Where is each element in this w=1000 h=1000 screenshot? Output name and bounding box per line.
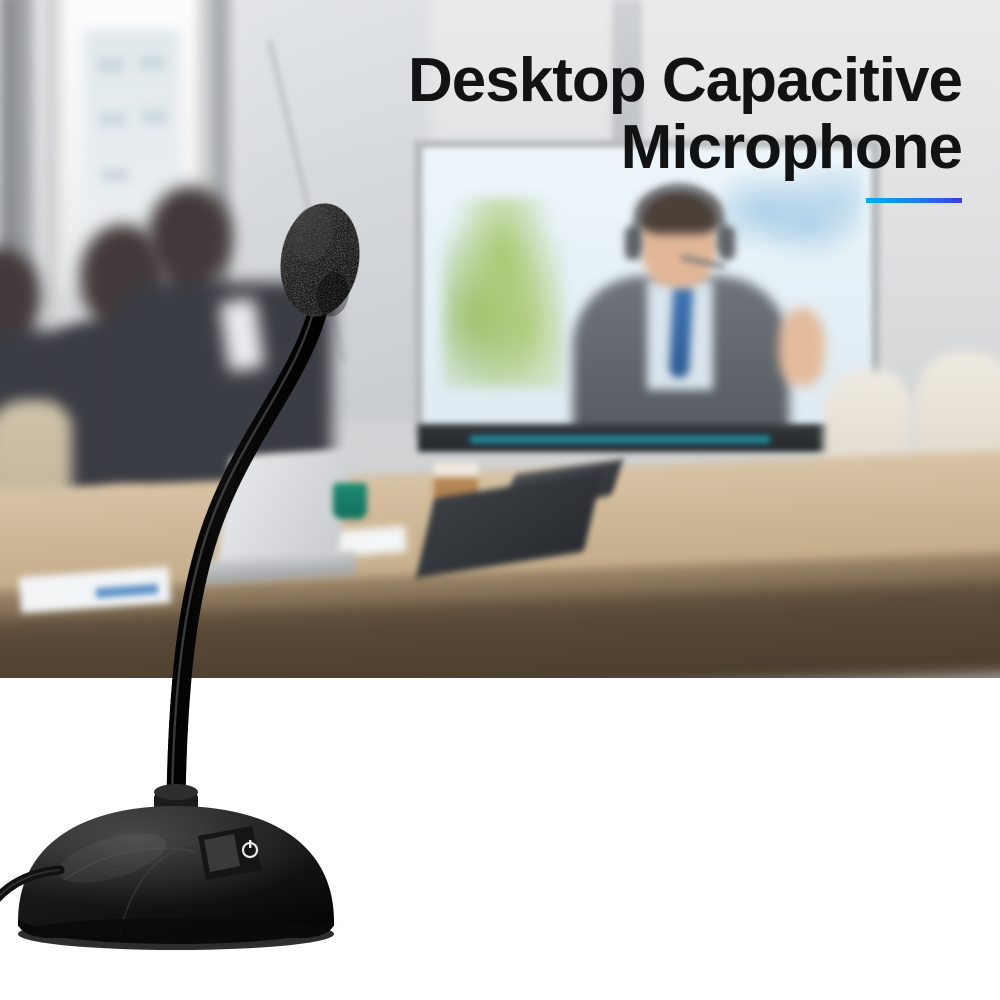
video-call-headset-earcup <box>625 226 641 260</box>
flexible-gooseneck <box>172 310 318 800</box>
building-window-pane <box>98 58 124 72</box>
foam-windscreen <box>273 198 368 323</box>
building-window-pane <box>100 112 126 126</box>
title-accent-rule <box>866 198 962 203</box>
title-line-2: Microphone <box>322 115 962 182</box>
product-image-microphone <box>0 180 400 970</box>
display-soundbar-accent <box>470 436 770 443</box>
building-window-pane <box>142 110 166 124</box>
page-title: Desktop Capacitive Microphone <box>322 48 962 203</box>
dome-base <box>18 806 334 950</box>
video-call-person-hand <box>779 308 825 386</box>
building-window-pane <box>140 56 164 70</box>
video-call-headset-earcup <box>719 226 735 260</box>
product-banner: Desktop Capacitive Microphone <box>0 0 1000 1000</box>
title-line-1: Desktop Capacitive <box>322 48 962 115</box>
video-call-plant <box>443 198 563 388</box>
